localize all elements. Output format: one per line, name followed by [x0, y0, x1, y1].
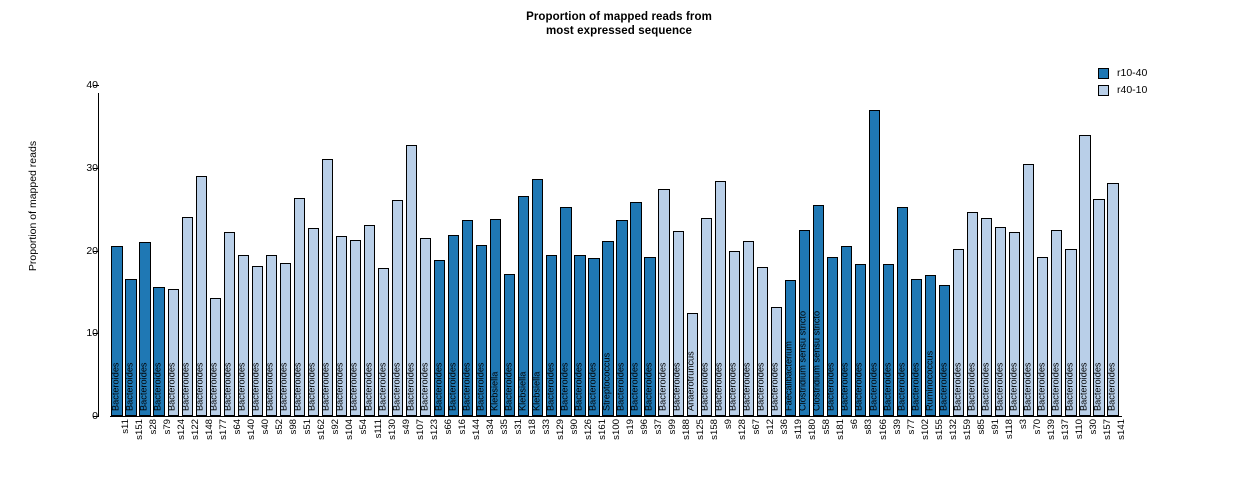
- x-axis-tick-label: s67: [752, 419, 761, 434]
- x-axis-tick-label: s126: [584, 419, 593, 440]
- bar[interactable]: Bacteroides: [139, 242, 150, 416]
- bar-genus-label: Faecalibacterium: [785, 341, 794, 411]
- bar-genus-label: Bacteroides: [757, 362, 766, 411]
- x-axis-tick-label: s90: [570, 419, 579, 434]
- bar[interactable]: Bacteroides: [911, 279, 922, 416]
- x-axis-tick-label: s58: [822, 419, 831, 434]
- bar-genus-label: Bacteroides: [126, 362, 135, 411]
- bar-genus-label: Bacteroides: [883, 362, 892, 411]
- bar[interactable]: Clostridium sensu stricto: [799, 230, 810, 416]
- x-axis-tick-label: s102: [921, 419, 930, 440]
- x-axis-tick-label: s157: [1103, 419, 1112, 440]
- bar[interactable]: Bacteroides: [715, 181, 726, 416]
- bar-chart: Proportion of mapped reads from most exp…: [0, 0, 1238, 500]
- x-axis-tick-label: s141: [1117, 419, 1126, 440]
- bar[interactable]: Bacteroides: [841, 246, 852, 416]
- bar-genus-label: Klebsiella: [518, 372, 527, 411]
- x-axis-tick-label: s92: [331, 419, 340, 434]
- bar[interactable]: Bacteroides: [771, 307, 782, 416]
- x-axis-tick-label: s151: [135, 419, 144, 440]
- bar-genus-label: Bacteroides: [182, 362, 191, 411]
- bar-genus-label: Bacteroides: [869, 362, 878, 411]
- bar[interactable]: Bacteroides: [630, 202, 641, 416]
- y-axis-tick-label: 10: [38, 328, 98, 338]
- y-axis-tick-label: 40: [38, 80, 98, 90]
- x-axis-tick-label: s144: [472, 419, 481, 440]
- x-axis-tick-label: s129: [556, 419, 565, 440]
- bar-genus-label: Bacteroides: [168, 362, 177, 411]
- legend-swatch-icon-r10-40: [1098, 68, 1109, 79]
- bar-genus-label: Bacteroides: [1094, 362, 1103, 411]
- bar-genus-label: Bacteroides: [729, 362, 738, 411]
- bar-genus-label: Bacteroides: [546, 362, 555, 411]
- x-axis-tick-label: s83: [864, 419, 873, 434]
- x-axis-tick-label: s162: [317, 419, 326, 440]
- bar-genus-label: Bacteroides: [350, 362, 359, 411]
- bar-genus-label: Bacteroides: [673, 362, 682, 411]
- bar-genus-label: Bacteroides: [1065, 362, 1074, 411]
- bar[interactable]: Bacteroides: [406, 145, 417, 416]
- bar-genus-label: Bacteroides: [1009, 362, 1018, 411]
- bar[interactable]: Bacteroides: [210, 298, 221, 416]
- bar-genus-label: Bacteroides: [420, 362, 429, 411]
- bar-genus-label: Bacteroides: [659, 362, 668, 411]
- bar[interactable]: Bacteroides: [420, 238, 431, 416]
- bar[interactable]: Bacteroides: [644, 257, 655, 416]
- bar[interactable]: Bacteroides: [701, 218, 712, 416]
- x-axis-tick-label: s36: [780, 419, 789, 434]
- bar[interactable]: Bacteroides: [560, 207, 571, 416]
- bar-genus-label: Bacteroides: [308, 362, 317, 411]
- bar[interactable]: Bacteroides: [350, 240, 361, 416]
- x-axis-tick-label: s85: [977, 419, 986, 434]
- bar[interactable]: Bacteroides: [981, 218, 992, 416]
- bar-genus-label: Bacteroides: [224, 362, 233, 411]
- x-axis-tick-label: s77: [907, 419, 916, 434]
- x-axis-tick-label: s119: [794, 419, 803, 439]
- bar[interactable]: Bacteroides: [182, 217, 193, 416]
- bar[interactable]: Ruminococcus: [925, 275, 936, 416]
- bar-genus-label: Clostridium sensu stricto: [799, 311, 808, 411]
- y-axis-tick-label: 20: [38, 246, 98, 256]
- bar[interactable]: Bacteroides: [125, 279, 136, 416]
- bar[interactable]: Bacteroides: [504, 274, 515, 416]
- plot-area: BacteroidesBacteroidesBacteroidesBactero…: [110, 85, 1120, 416]
- bar[interactable]: Bacteroides: [364, 225, 375, 416]
- bar[interactable]: Bacteroides: [462, 220, 473, 416]
- x-axis-tick-label: s188: [682, 419, 691, 440]
- x-axis-tick-label: s18: [528, 419, 537, 434]
- x-axis-tick-label: s122: [191, 419, 200, 440]
- y-axis-tick-label-wrap: 30: [30, 168, 98, 169]
- bar[interactable]: Bacteroides: [897, 207, 908, 416]
- legend-item-r10-40[interactable]: r10-40: [1098, 66, 1228, 81]
- bar-genus-label: Bacteroides: [238, 362, 247, 411]
- bar-genus-label: Bacteroides: [448, 362, 457, 411]
- bar[interactable]: Bacteroides: [757, 267, 768, 416]
- x-axis-tick-label: s110: [1075, 419, 1084, 439]
- bar-genus-label: Bacteroides: [462, 362, 471, 411]
- bar-genus-label: Bacteroides: [378, 362, 387, 411]
- bar-genus-label: Bacteroides: [210, 362, 219, 411]
- bar-genus-label: Ruminococcus: [925, 351, 934, 411]
- bar[interactable]: Bacteroides: [546, 255, 557, 416]
- bar-genus-label: Klebsiella: [490, 372, 499, 411]
- bar[interactable]: Bacteroides: [883, 264, 894, 416]
- x-axis-tick-label: s161: [598, 419, 607, 440]
- x-axis-tick-label: s37: [654, 419, 663, 434]
- bar-genus-label: Bacteroides: [294, 362, 303, 411]
- bar-genus-label: Bacteroides: [743, 362, 752, 411]
- bar-genus-label: Bacteroides: [715, 362, 724, 411]
- bar[interactable]: Bacteroides: [448, 235, 459, 416]
- bar[interactable]: Bacteroides: [616, 220, 627, 416]
- x-axis-tick-label: s40: [261, 419, 270, 434]
- bar-genus-label: Streptococcus: [603, 353, 612, 411]
- bar[interactable]: Bacteroides: [238, 255, 249, 416]
- bar-genus-label: Bacteroides: [967, 362, 976, 411]
- x-axis-tick-label: s100: [612, 419, 621, 440]
- legend-label-r10-40: r10-40: [1117, 68, 1147, 79]
- bar-genus-label: Bacteroides: [911, 362, 920, 411]
- bar[interactable]: Bacteroides: [196, 176, 207, 416]
- x-axis-tick-label: s128: [738, 419, 747, 440]
- bar[interactable]: Bacteroides: [1093, 199, 1104, 416]
- bar[interactable]: Bacteroides: [111, 246, 122, 416]
- bar[interactable]: Klebsiella: [532, 179, 543, 416]
- bar[interactable]: Bacteroides: [1065, 249, 1076, 416]
- bar[interactable]: Bacteroides: [308, 228, 319, 416]
- bar-genus-label: Bacteroides: [575, 362, 584, 411]
- x-axis-tick-label: s52: [275, 419, 284, 434]
- x-axis-tick-label: s66: [444, 419, 453, 434]
- chart-title-line-2: most expressed sequence: [0, 24, 1238, 38]
- bar-genus-label: Bacteroides: [645, 362, 654, 411]
- bar-genus-label: Bacteroides: [392, 362, 401, 411]
- x-axis-tick-label: s28: [149, 419, 158, 434]
- bar[interactable]: Bacteroides: [168, 289, 179, 416]
- bar-genus-label: Bacteroides: [995, 362, 1004, 411]
- x-axis-tick-label: s70: [1033, 419, 1042, 434]
- x-axis-tick-label: s111: [374, 419, 383, 438]
- x-axis-tick-label: s79: [163, 419, 172, 434]
- legend-label-r40-10: r40-10: [1117, 85, 1147, 96]
- x-axis-tick-label: s3: [1019, 419, 1028, 429]
- x-axis-tick-label: s11: [121, 419, 130, 434]
- x-axis-tick-label: s118: [1005, 419, 1014, 439]
- bar-genus-label: Bacteroides: [476, 362, 485, 411]
- bar-genus-label: Bacteroides: [1108, 362, 1117, 411]
- x-axis-tick-label: s64: [233, 419, 242, 434]
- x-axis-tick-label: s139: [1047, 419, 1056, 440]
- x-axis-tick-label: s130: [388, 419, 397, 440]
- bar[interactable]: Bacteroides: [855, 264, 866, 416]
- bar[interactable]: Bacteroides: [673, 231, 684, 416]
- bar[interactable]: Faecalibacterium: [785, 280, 796, 416]
- bar-genus-label: Bacteroides: [364, 362, 373, 411]
- bar-genus-label: Bacteroides: [701, 362, 710, 411]
- bar-genus-label: Bacteroides: [589, 362, 598, 411]
- bar-genus-label: Bacteroides: [434, 362, 443, 411]
- chart-title-line-1: Proportion of mapped reads from: [526, 11, 712, 23]
- bar[interactable]: Streptococcus: [602, 241, 613, 416]
- bar-genus-label: Bacteroides: [771, 362, 780, 411]
- bar[interactable]: Bacteroides: [1037, 257, 1048, 416]
- bar[interactable]: Bacteroides: [392, 200, 403, 416]
- y-axis-tick-label: 30: [38, 163, 98, 173]
- bar-genus-label: Bacteroides: [981, 362, 990, 411]
- bar-genus-label: Bacteroides: [855, 362, 864, 411]
- x-axis-tick-label: s49: [402, 419, 411, 434]
- bar[interactable]: Bacteroides: [294, 198, 305, 416]
- bar-genus-label: Bacteroides: [953, 362, 962, 411]
- bar-genus-label: Bacteroides: [827, 362, 836, 411]
- x-axis-tick-label: s51: [303, 419, 312, 434]
- x-axis-tick-label: s124: [177, 419, 186, 440]
- y-axis-tick-label-wrap: 10: [30, 333, 98, 334]
- bar[interactable]: Bacteroides: [378, 268, 389, 416]
- x-axis-tick-label: s158: [710, 419, 719, 440]
- bar[interactable]: Klebsiella: [518, 196, 529, 416]
- bar[interactable]: Bacteroides: [953, 249, 964, 416]
- x-axis-tick-label: s9: [724, 419, 733, 429]
- bar-genus-label: Bacteroides: [897, 362, 906, 411]
- bar[interactable]: Bacteroides: [827, 257, 838, 416]
- y-axis-tick-label-wrap: 0: [30, 416, 98, 417]
- x-axis-line: [110, 416, 1122, 417]
- bar[interactable]: Bacteroides: [967, 212, 978, 416]
- y-axis-tick-label-wrap: 40: [30, 85, 98, 86]
- bar[interactable]: Bacteroides: [729, 251, 740, 417]
- x-axis-tick-label: s132: [949, 419, 958, 440]
- bar-genus-label: Bacteroides: [560, 362, 569, 411]
- chart-title: Proportion of mapped reads from most exp…: [0, 10, 1238, 38]
- x-axis-tick-label: s104: [345, 419, 354, 440]
- bar-genus-label: Bacteroides: [617, 362, 626, 411]
- bar[interactable]: Bacteroides: [939, 285, 950, 416]
- x-axis-tick-label: s12: [766, 419, 775, 434]
- x-axis-tick-label: s123: [430, 419, 439, 440]
- bar[interactable]: Bacteroides: [1023, 164, 1034, 416]
- bar[interactable]: Bacteroides: [574, 255, 585, 416]
- bar[interactable]: Bacteroides: [743, 241, 754, 416]
- bar-genus-label: Bacteroides: [140, 362, 149, 411]
- x-axis-tick-label: s107: [416, 419, 425, 440]
- x-axis-tick-label: s99: [668, 419, 677, 434]
- x-axis-tick-label: s98: [289, 419, 298, 434]
- bar-genus-label: Bacteroides: [1051, 362, 1060, 411]
- bar[interactable]: Bacteroides: [1107, 183, 1118, 416]
- bar[interactable]: Bacteroides: [1051, 230, 1062, 416]
- bar-genus-label: Bacteroides: [841, 362, 850, 411]
- y-axis-line: [98, 93, 99, 416]
- x-axis-tick-label: s148: [205, 419, 214, 440]
- y-axis-tick-label: 0: [38, 411, 98, 421]
- bar[interactable]: Bacteroides: [266, 255, 277, 416]
- bar[interactable]: Bacteroides: [252, 266, 263, 416]
- x-axis-tick-label: s31: [514, 419, 523, 434]
- x-axis-tick-label: s125: [696, 419, 705, 440]
- x-axis-tick-label: s159: [963, 419, 972, 440]
- bar-genus-label: Bacteroides: [322, 362, 331, 411]
- bar[interactable]: Klebsiella: [490, 219, 501, 416]
- bar[interactable]: Bacteroides: [1079, 135, 1090, 416]
- x-axis-tick-label: s96: [640, 419, 649, 434]
- bar[interactable]: Bacteroides: [153, 287, 164, 416]
- bar[interactable]: Bacteroides: [995, 227, 1006, 416]
- bar-genus-label: Bacteroides: [1080, 362, 1089, 411]
- bar-genus-label: Bacteroides: [1037, 362, 1046, 411]
- x-axis-tick-label: s137: [1061, 419, 1070, 440]
- bar[interactable]: Bacteroides: [869, 110, 880, 416]
- x-axis-tick-label: s140: [247, 419, 256, 440]
- bar[interactable]: Bacteroides: [322, 159, 333, 416]
- x-axis-tick-label: s30: [1089, 419, 1098, 434]
- bar-genus-label: Bacteroides: [939, 362, 948, 411]
- bar[interactable]: Bacteroides: [280, 263, 291, 416]
- x-axis-tick-label: s54: [359, 419, 368, 434]
- x-axis-tick-label: s155: [935, 419, 944, 440]
- bar[interactable]: Bacteroides: [658, 189, 669, 416]
- x-axis-tick-label: s177: [219, 419, 228, 440]
- x-axis-tick-label: s35: [500, 419, 509, 434]
- x-axis-tick-label: s19: [626, 419, 635, 434]
- x-axis-tick-label: s6: [850, 419, 859, 429]
- bar-genus-label: Bacteroides: [336, 362, 345, 411]
- x-axis-tick-label: s39: [893, 419, 902, 434]
- bar-genus-label: Bacteroides: [266, 362, 275, 411]
- bar-genus-label: Clostridium sensu stricto: [813, 311, 822, 411]
- bar-genus-label: Bacteroides: [280, 362, 289, 411]
- bar[interactable]: Anaerotruncus: [687, 313, 698, 416]
- x-axis-tick-label: s91: [991, 419, 1000, 434]
- bar[interactable]: Bacteroides: [224, 232, 235, 416]
- bar-genus-label: Bacteroides: [504, 362, 513, 411]
- y-axis-tick-label-wrap: 20: [30, 251, 98, 252]
- bar-genus-label: Bacteroides: [196, 362, 205, 411]
- x-axis-tick-label: s181: [836, 419, 845, 440]
- bar-genus-label: Bacteroides: [252, 362, 261, 411]
- x-axis-tick-label: s34: [486, 419, 495, 434]
- x-axis-tick-label: s180: [808, 419, 817, 440]
- bar[interactable]: Bacteroides: [336, 236, 347, 416]
- bar-genus-label: Bacteroides: [406, 362, 415, 411]
- bar[interactable]: Bacteroides: [588, 258, 599, 416]
- y-axis-title: Proportion of mapped reads: [27, 106, 39, 306]
- bar[interactable]: Bacteroides: [1009, 232, 1020, 416]
- x-axis-tick-labels: s11s151s28s79s124s122s148s177s64s140s40s…: [110, 419, 1120, 494]
- x-axis-tick-label: s166: [879, 419, 888, 440]
- bar-genus-label: Bacteroides: [154, 362, 163, 411]
- x-axis-tick-label: s33: [542, 419, 551, 434]
- x-axis-tick-label: s16: [458, 419, 467, 434]
- bar[interactable]: Bacteroides: [476, 245, 487, 416]
- bar-genus-label: Bacteroides: [112, 362, 121, 411]
- bar[interactable]: Clostridium sensu stricto: [813, 205, 824, 416]
- bar-genus-label: Klebsiella: [532, 372, 541, 411]
- bar-genus-label: Bacteroides: [631, 362, 640, 411]
- bar-genus-label: Bacteroides: [1023, 362, 1032, 411]
- bar-genus-label: Anaerotruncus: [687, 351, 696, 411]
- bar[interactable]: Bacteroides: [434, 260, 445, 416]
